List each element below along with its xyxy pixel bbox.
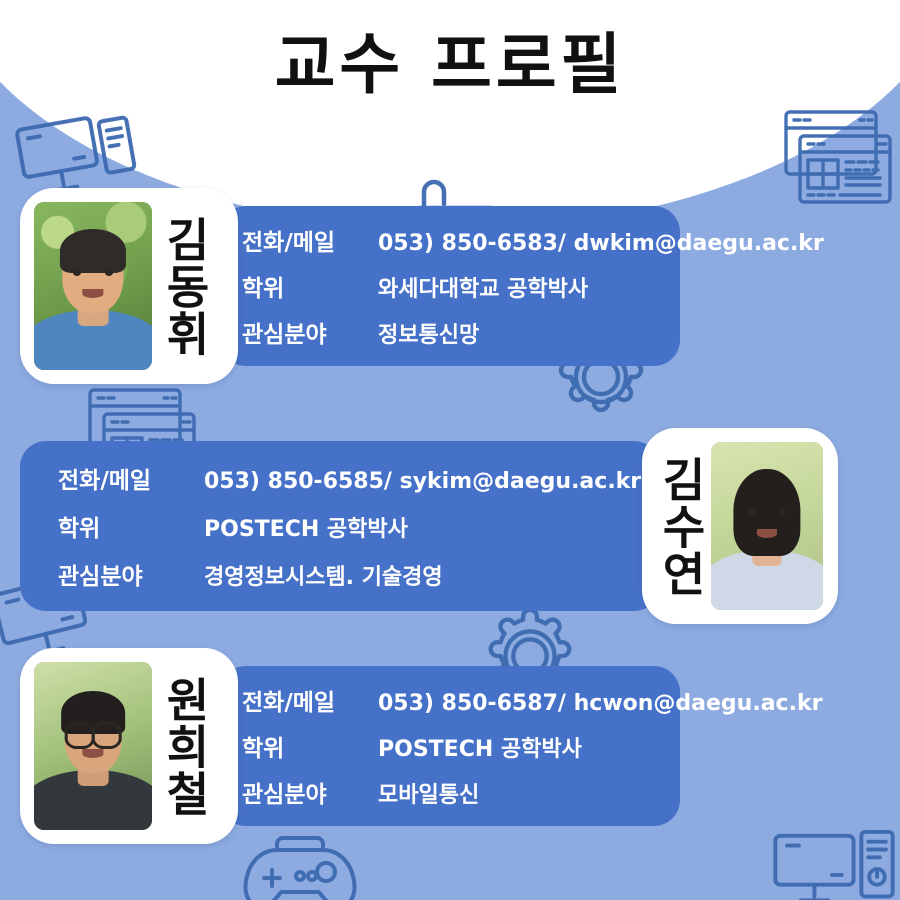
label-degree: 학위 [242, 729, 378, 763]
professor-name-3: 원희철 [162, 676, 207, 817]
value-degree: POSTECH 공학박사 [204, 511, 408, 543]
value-degree: POSTECH 공학박사 [378, 731, 582, 763]
photo-frame-1: 김동휘 [20, 188, 238, 384]
desktop-computer-icon [770, 828, 898, 900]
professor-name-1: 김동휘 [162, 216, 207, 357]
value-contact: 053) 850-6583/ dwkim@daegu.ac.kr [378, 231, 824, 256]
info-card-1: 전화/메일 053) 850-6583/ dwkim@daegu.ac.kr 학… [220, 206, 680, 366]
value-interest: 모바일통신 [378, 777, 479, 809]
avatar-2 [711, 442, 823, 610]
profile-row-1: 김동휘 전화/메일 053) 850-6583/ dwkim@daegu.ac.… [20, 188, 680, 384]
photo-frame-3: 원희철 [20, 648, 238, 844]
value-interest: 경영정보시스템. 기술경영 [204, 559, 443, 591]
info-row-degree: 학위 POSTECH 공학박사 [58, 509, 660, 543]
info-row-degree: 학위 POSTECH 공학박사 [242, 729, 680, 763]
profile-row-2: 전화/메일 053) 850-6585/ sykim@daegu.ac.kr 학… [20, 428, 838, 624]
label-interest: 관심분야 [58, 557, 204, 591]
info-row-contact: 전화/메일 053) 850-6585/ sykim@daegu.ac.kr [58, 461, 660, 495]
professor-name-2: 김수연 [658, 456, 703, 597]
value-contact: 053) 850-6587/ hcwon@daegu.ac.kr [378, 691, 822, 716]
value-degree: 와세다대학교 공학박사 [378, 271, 588, 303]
profile-row-3: 원희철 전화/메일 053) 850-6587/ hcwon@daegu.ac.… [20, 648, 680, 844]
info-card-2: 전화/메일 053) 850-6585/ sykim@daegu.ac.kr 학… [20, 441, 660, 611]
info-row-contact: 전화/메일 053) 850-6587/ hcwon@daegu.ac.kr [242, 683, 680, 717]
info-row-interest: 관심분야 경영정보시스템. 기술경영 [58, 557, 660, 591]
info-row-interest: 관심분야 모바일통신 [242, 775, 680, 809]
label-degree: 학위 [242, 269, 378, 303]
label-contact: 전화/메일 [242, 223, 378, 257]
value-interest: 정보통신망 [378, 317, 479, 349]
info-row-degree: 학위 와세다대학교 공학박사 [242, 269, 680, 303]
avatar-1 [34, 202, 152, 370]
photo-frame-2: 김수연 [642, 428, 838, 624]
info-row-contact: 전화/메일 053) 850-6583/ dwkim@daegu.ac.kr [242, 223, 680, 257]
info-card-3: 전화/메일 053) 850-6587/ hcwon@daegu.ac.kr 학… [220, 666, 680, 826]
label-interest: 관심분야 [242, 775, 378, 809]
label-contact: 전화/메일 [58, 461, 204, 495]
value-contact: 053) 850-6585/ sykim@daegu.ac.kr [204, 469, 641, 494]
label-interest: 관심분야 [242, 315, 378, 349]
label-degree: 학위 [58, 509, 204, 543]
poster-canvas: 교수 프로필 김동휘 전화/메일 [0, 0, 900, 900]
label-contact: 전화/메일 [242, 683, 378, 717]
avatar-3 [34, 662, 152, 830]
page-title: 교수 프로필 [0, 24, 900, 106]
info-row-interest: 관심분야 정보통신망 [242, 315, 680, 349]
